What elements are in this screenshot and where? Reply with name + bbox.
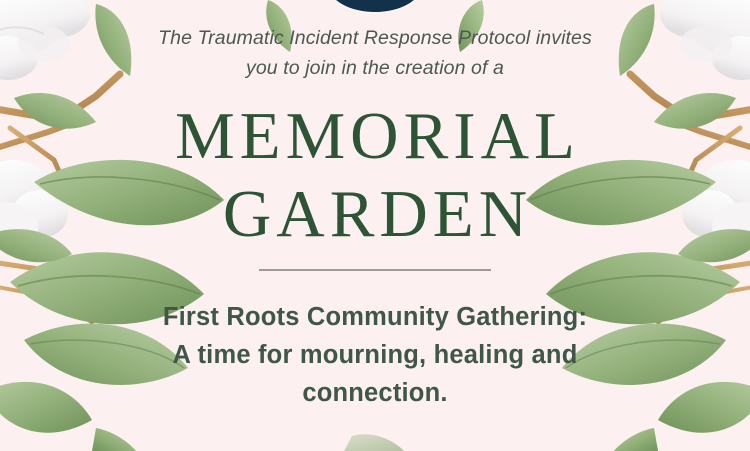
memorial-garden-invitation: The Traumatic Incident Response Protocol… (0, 0, 750, 451)
page-title: MEMORIAL GARDEN (170, 97, 580, 253)
intro-line-1: The Traumatic Incident Response Protocol… (158, 27, 592, 49)
invitation-body: First Roots Community Gathering: A time … (105, 298, 645, 412)
body-line-2: A time for mourning, healing and (105, 336, 645, 374)
headline-line-2: GARDEN (170, 175, 580, 253)
title-divider (259, 269, 491, 271)
body-line-1: First Roots Community Gathering: (105, 298, 645, 336)
invitation-content: The Traumatic Incident Response Protocol… (0, 0, 750, 451)
body-line-3: connection. (105, 374, 645, 412)
invitation-intro: The Traumatic Incident Response Protocol… (95, 23, 655, 83)
headline-line-1: MEMORIAL (170, 97, 580, 175)
intro-line-2: you to join in the creation of a (95, 53, 655, 83)
